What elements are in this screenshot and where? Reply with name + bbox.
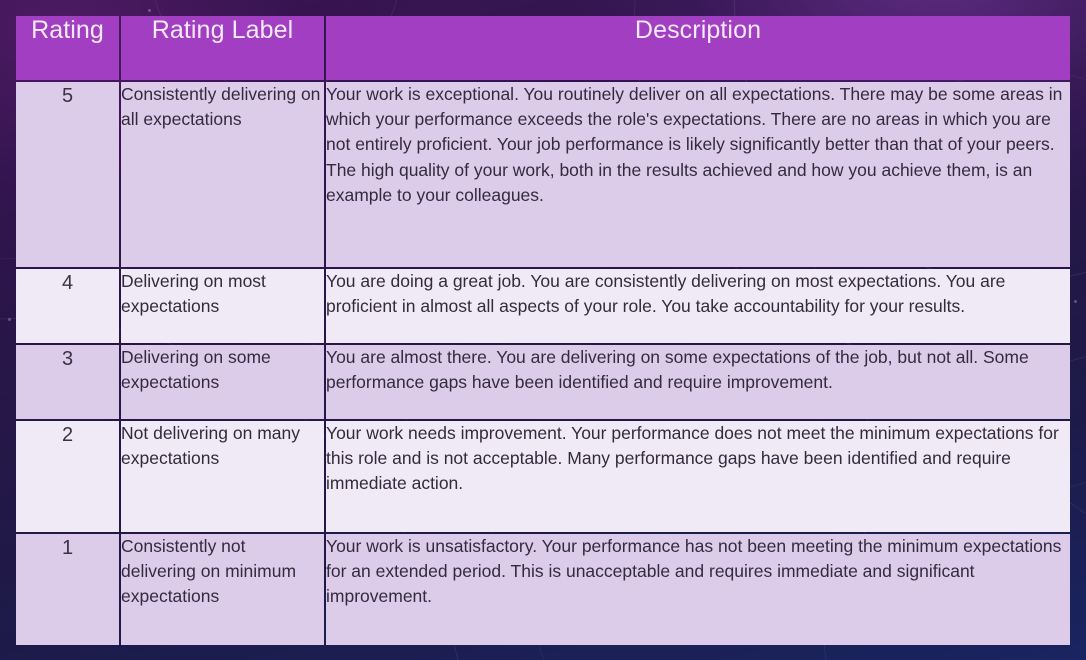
cell-rating: 4 (16, 269, 119, 343)
cell-description: Your work needs improvement. Your perfor… (326, 421, 1070, 532)
table-row: 1 Consistently not delivering on minimum… (16, 534, 1070, 645)
cell-rating-label: Delivering on some expectations (121, 345, 324, 419)
column-header-rating-label: Rating Label (121, 16, 324, 80)
table-header-row: Rating Rating Label Description (16, 16, 1070, 80)
rating-scale-table: Rating Rating Label Description 5 Consis… (14, 14, 1072, 647)
slide-canvas: Rating Rating Label Description 5 Consis… (0, 0, 1086, 660)
cell-rating-label: Not delivering on many expectations (121, 421, 324, 532)
cell-description: Your work is unsatisfactory. Your perfor… (326, 534, 1070, 645)
cell-description: You are doing a great job. You are consi… (326, 269, 1070, 343)
decorative-dot-icon (148, 9, 151, 12)
cell-rating-label: Delivering on most expectations (121, 269, 324, 343)
table-row: 4 Delivering on most expectations You ar… (16, 269, 1070, 343)
column-header-description: Description (326, 16, 1070, 80)
decorative-dot-icon (8, 318, 11, 321)
rating-scale-table-container: Rating Rating Label Description 5 Consis… (14, 14, 1072, 647)
table-row: 3 Delivering on some expectations You ar… (16, 345, 1070, 419)
table-row: 5 Consistently delivering on all expecta… (16, 82, 1070, 267)
table-row: 2 Not delivering on many expectations Yo… (16, 421, 1070, 532)
cell-rating: 2 (16, 421, 119, 532)
table-header: Rating Rating Label Description (16, 16, 1070, 80)
cell-rating-label: Consistently delivering on all expectati… (121, 82, 324, 267)
cell-rating: 5 (16, 82, 119, 267)
column-header-rating: Rating (16, 16, 119, 80)
cell-rating: 3 (16, 345, 119, 419)
cell-description: Your work is exceptional. You routinely … (326, 82, 1070, 267)
cell-rating: 1 (16, 534, 119, 645)
cell-description: You are almost there. You are delivering… (326, 345, 1070, 419)
table-body: 5 Consistently delivering on all expecta… (16, 82, 1070, 645)
cell-rating-label: Consistently not delivering on minimum e… (121, 534, 324, 645)
decorative-dot-icon (1074, 300, 1077, 303)
